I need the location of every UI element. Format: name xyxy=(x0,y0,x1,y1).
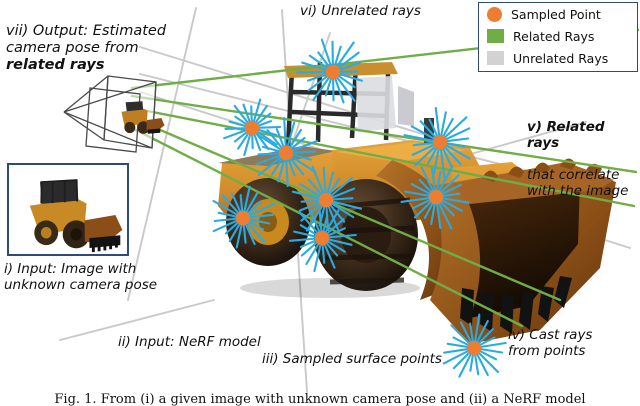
annotation-v-rest: that correlate with the image xyxy=(527,167,628,199)
annotation-vii: vii) Output: Estimated camera pose from … xyxy=(6,6,196,74)
legend-label: Related Rays xyxy=(513,29,594,44)
annotation-v-bold: v) Related rays xyxy=(527,119,605,151)
annotation-vii-head: vii) Output: Estimated camera pose from xyxy=(6,23,166,56)
annotation-i: i) Input: Image with unknown camera pose xyxy=(4,262,157,294)
input-image-box xyxy=(7,163,129,256)
related-rays-swatch-icon xyxy=(487,29,504,43)
annotation-vi: vi) Unrelated rays xyxy=(300,4,421,20)
frustum-edge xyxy=(64,76,108,112)
legend-label: Sampled Point xyxy=(511,7,601,22)
legend-box: Sampled Point Related Rays Unrelated Ray… xyxy=(478,2,638,72)
annotation-iii: iii) Sampled surface points xyxy=(262,352,442,368)
figure-caption: Fig. 1. From (i) a given image with unkn… xyxy=(0,392,640,406)
annotation-v: v) Related rays that correlate with the … xyxy=(527,104,639,200)
unrelated-rays-swatch-icon xyxy=(487,51,504,65)
annotation-ii: ii) Input: NeRF model xyxy=(118,335,261,351)
input-image-thumbnail xyxy=(9,165,127,254)
legend-item-related-rays: Related Rays xyxy=(479,25,637,47)
legend-label: Unrelated Rays xyxy=(513,51,608,66)
annotation-vii-bold: related rays xyxy=(6,57,105,73)
legend-item-sampled-point: Sampled Point xyxy=(479,3,637,25)
annotation-iv: iv) Cast rays from points xyxy=(508,328,592,360)
figure-canvas: Sampled Point Related Rays Unrelated Ray… xyxy=(0,0,640,406)
sampled-point-swatch-icon xyxy=(487,7,502,22)
legend-item-unrelated-rays: Unrelated Rays xyxy=(479,47,637,69)
